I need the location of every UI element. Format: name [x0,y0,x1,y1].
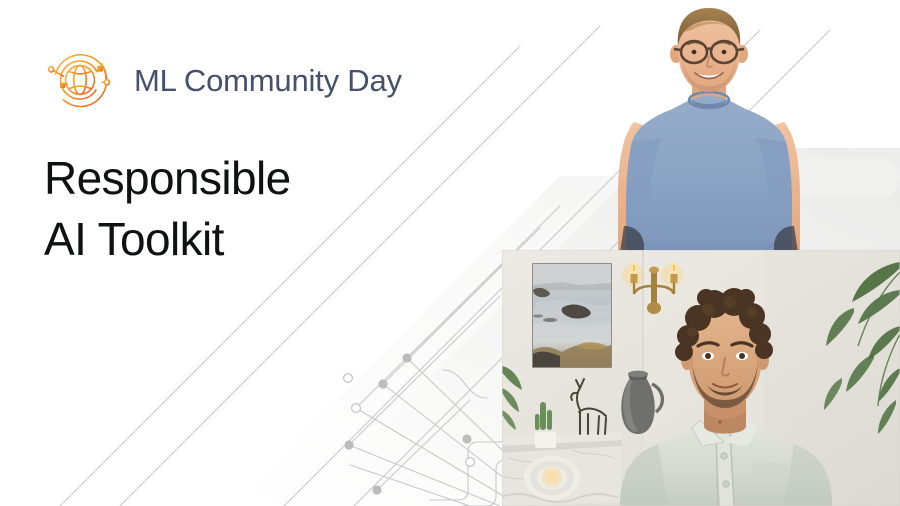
brand-lockup: ML Community Day [42,42,402,118]
presenter-body [618,82,800,252]
slide-canvas: ML Community Day Responsible AI Toolkit [0,0,900,506]
presenter-cutout [592,0,842,252]
globe-orbit-icon [42,42,118,118]
page-title: Responsible AI Toolkit [44,148,291,270]
video-call-tile[interactable] [502,250,900,506]
seascape-painting [532,263,612,368]
presenter-head [670,8,748,92]
brand-title: ML Community Day [134,65,402,96]
marble-fireplace-mantel [502,432,622,506]
